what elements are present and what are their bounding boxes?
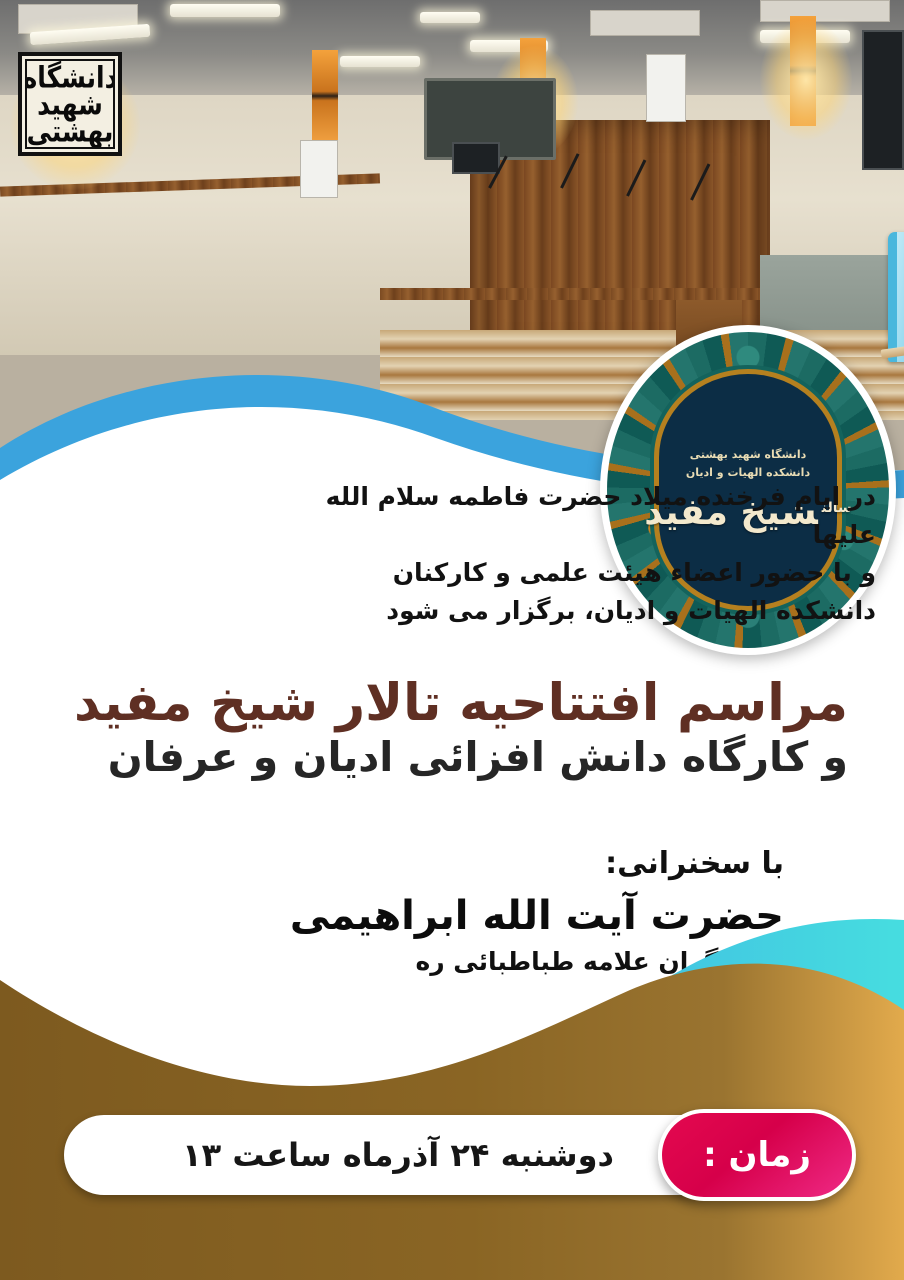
time-label-text: زمان : — [703, 1135, 811, 1175]
ceiling-light — [340, 56, 420, 67]
intro-line-1: در ایام فرخنده میلاد حضرت فاطمه سلام الل… — [316, 478, 876, 554]
event-headline: مراسم افتتاحیه تالار شیخ مفید و کارگاه د… — [48, 676, 848, 781]
logo-line-1: دانشگاه — [25, 63, 115, 90]
speaker-lead-label: با سخنرانی: — [164, 846, 784, 881]
monitor — [452, 142, 500, 174]
ceiling-vent — [760, 0, 890, 22]
medallion-faculty-name: دانشکده الهیات و ادیان — [686, 466, 810, 479]
standing-poster — [300, 140, 338, 198]
logo-line-2: شهید — [25, 90, 115, 117]
bottom-waves — [0, 890, 904, 1280]
ceiling-light — [420, 12, 480, 23]
intro-line-3: دانشکده الهیات و ادیان، برگزار می شود — [316, 592, 876, 630]
ceiling-light — [170, 4, 280, 17]
medallion-university-name: دانشگاه شهید بهشتی — [690, 448, 807, 461]
headline-line-2: و کارگاه دانش افزائی ادیان و عرفان — [48, 735, 848, 781]
wall-sconce — [312, 50, 338, 142]
ceiling-vent — [590, 10, 700, 36]
intro-text: در ایام فرخنده میلاد حضرت فاطمه سلام الل… — [316, 478, 876, 630]
university-logo: دانشگاه شهید بهشتی — [18, 52, 122, 156]
time-label-pill: زمان : — [658, 1109, 856, 1201]
time-value-pill: دوشنبه ۲۴ آذرماه ساعت ۱۳ — [64, 1115, 732, 1195]
event-poster: دانشگاه شهید بهشتی دانشکده الهیات و ادیا… — [0, 0, 904, 1280]
intro-line-2: و با حضور اعضاء هیئت علمی و کارکنان — [316, 554, 876, 592]
wall-tv — [862, 30, 904, 170]
logo-line-3: بهشتی — [25, 118, 115, 145]
logo-frame: دانشگاه شهید بهشتی — [25, 59, 115, 149]
wall-poster — [646, 54, 686, 122]
time-value-text: دوشنبه ۲۴ آذرماه ساعت ۱۳ — [182, 1136, 614, 1174]
time-bar: دوشنبه ۲۴ آذرماه ساعت ۱۳ زمان : — [0, 1115, 904, 1199]
sconce-glow — [760, 20, 852, 140]
headline-line-1: مراسم افتتاحیه تالار شیخ مفید — [48, 676, 848, 731]
logo-calligraphy: دانشگاه شهید بهشتی — [25, 63, 115, 144]
